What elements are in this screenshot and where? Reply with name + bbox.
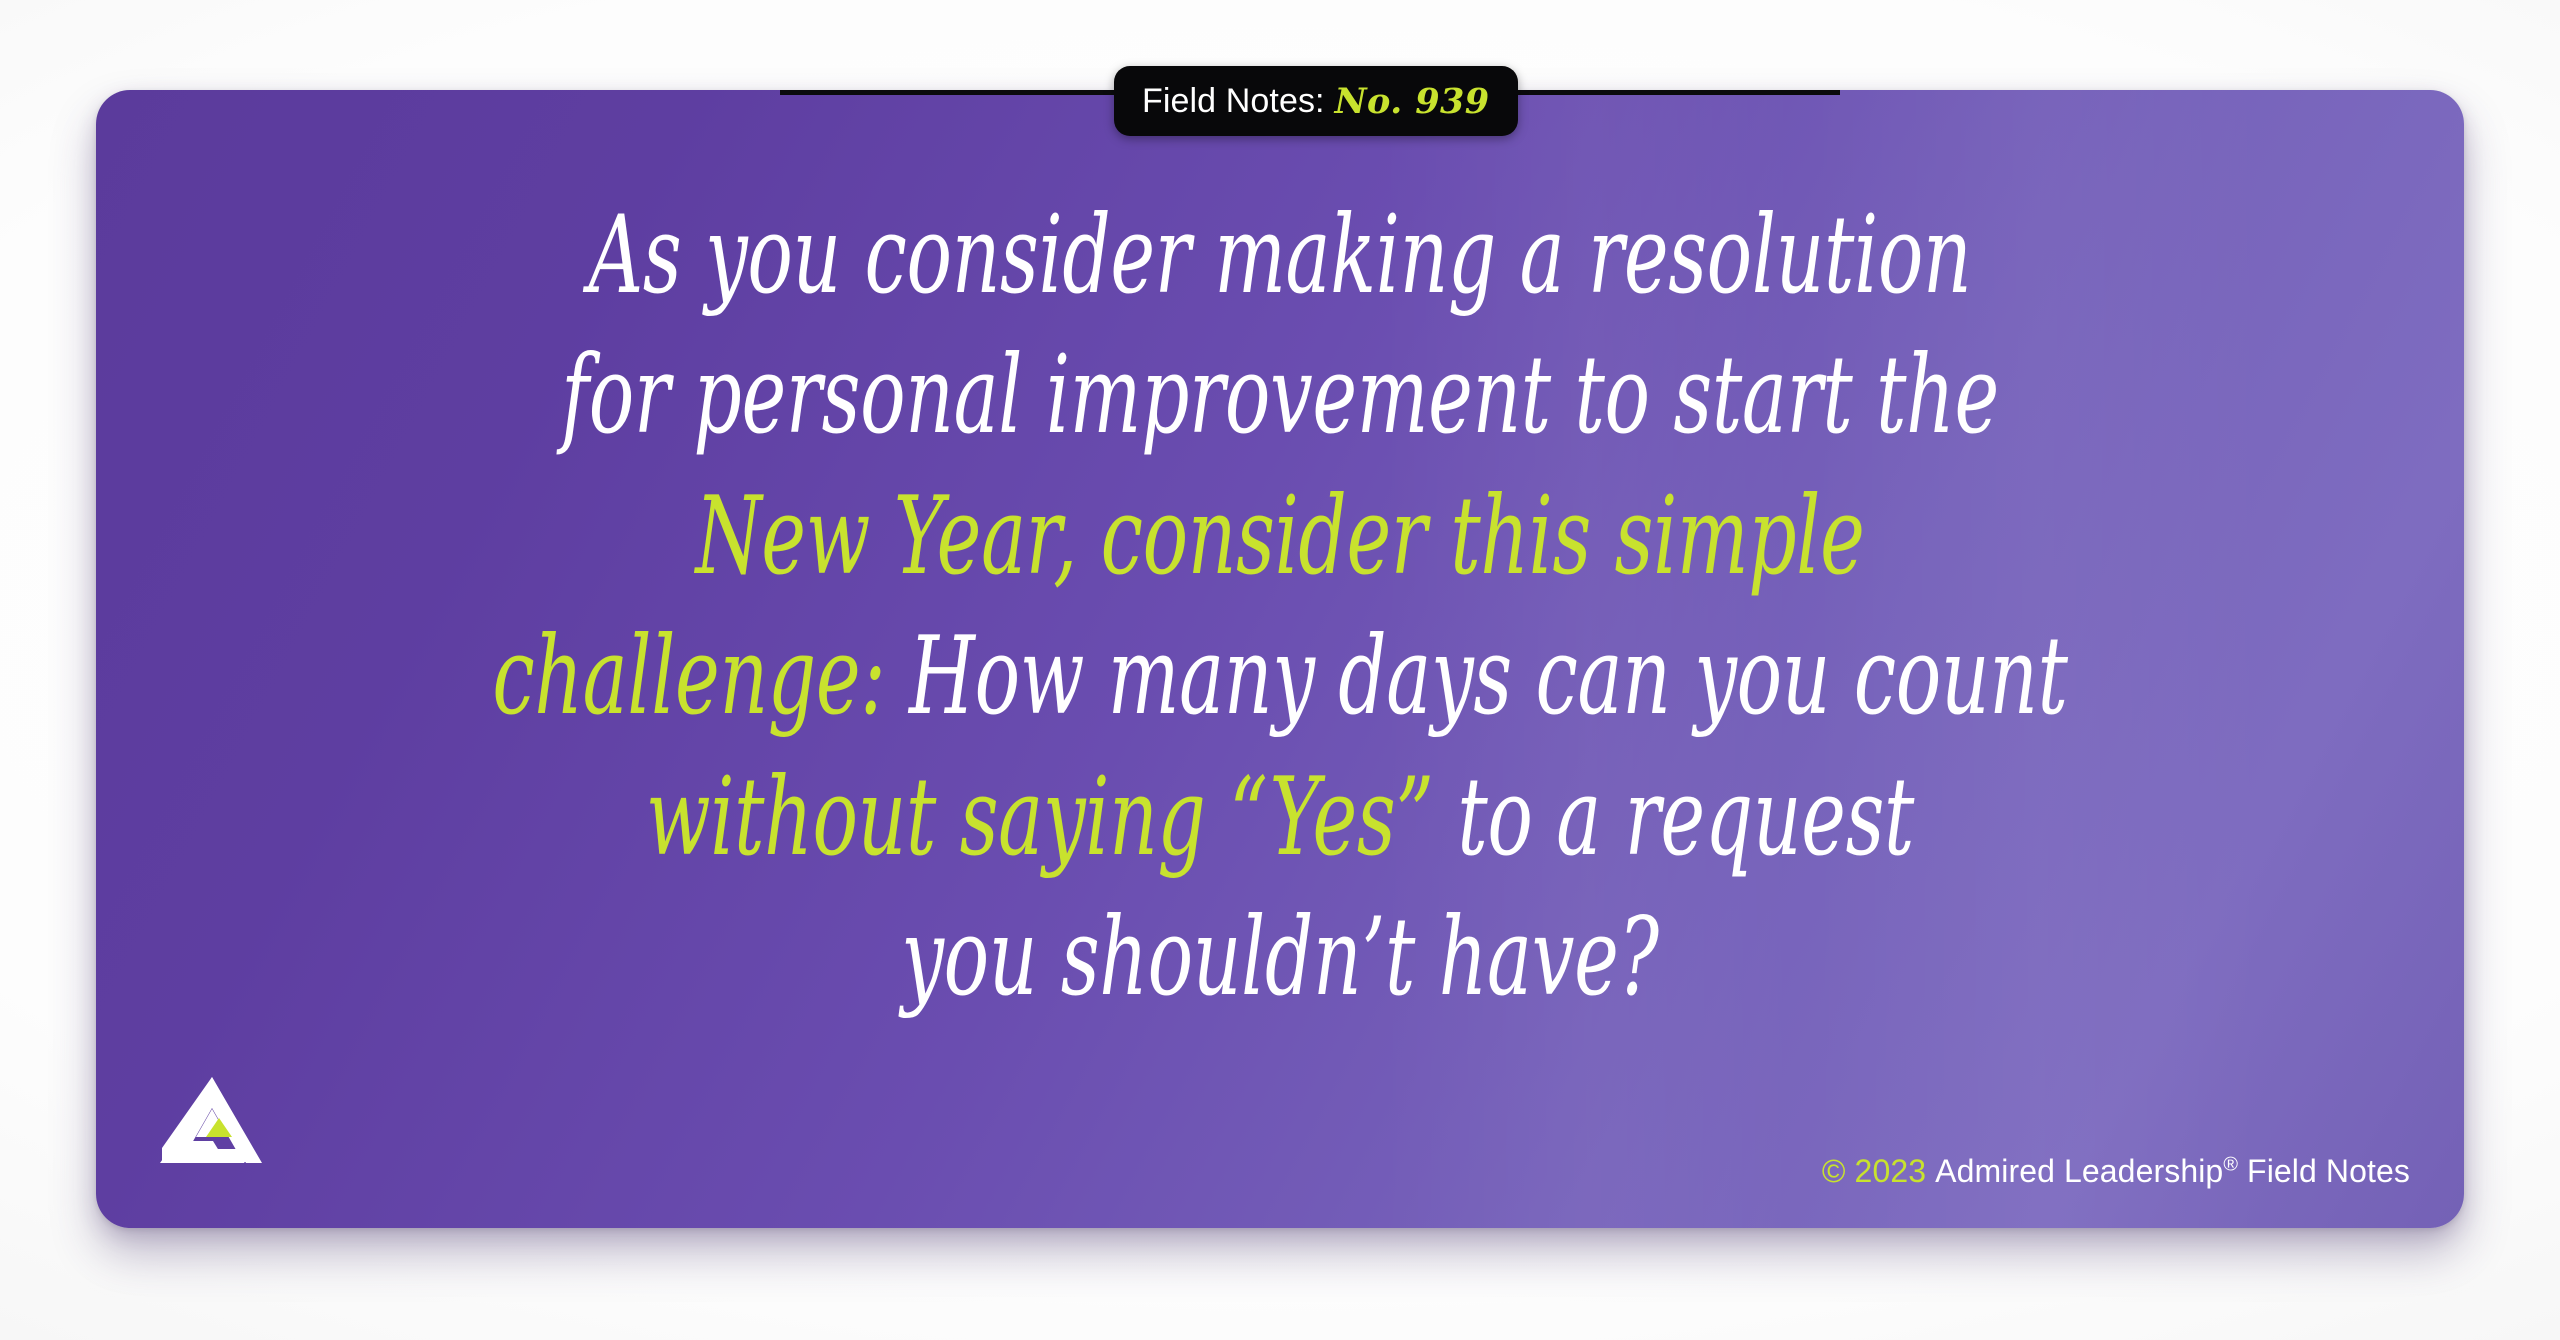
copyright-year: © 2023 <box>1822 1153 1926 1190</box>
quote-segment: to a request <box>1434 755 1914 880</box>
quote-line-4: challenge: How many days can you count <box>490 607 2069 747</box>
quote-text: As you consider making a resolution for … <box>451 186 2109 1028</box>
quote-line-5: without saying “Yes” to a request <box>490 748 2069 888</box>
badge-label: Field Notes: <box>1142 82 1325 121</box>
admired-leadership-logo-icon <box>158 1075 266 1171</box>
quote-segment: for personal improvement to start the <box>561 333 1999 458</box>
field-notes-badge: Field Notes: No. 939 <box>1114 66 1518 136</box>
quote-line-1: As you consider making a resolution <box>490 186 2069 326</box>
brand-attribution: Admired Leadership® Field Notes <box>1935 1153 2410 1190</box>
badge-number: No. 939 <box>1335 81 1490 122</box>
copyright-footer: © 2023 Admired Leadership® Field Notes <box>1822 1153 2410 1190</box>
quote-segment-highlight: New Year, consider this simple <box>695 474 1864 599</box>
brand-suffix: Field Notes <box>2238 1153 2410 1189</box>
registered-mark: ® <box>2223 1153 2238 1175</box>
quote-segment: As you consider making a resolution <box>589 193 1972 318</box>
quote-segment-highlight: without saying “Yes” <box>646 755 1434 880</box>
quote-segment: you shouldn’t have? <box>901 895 1658 1020</box>
quote-line-3: New Year, consider this simple <box>490 467 2069 607</box>
quote-segment-highlight: challenge: <box>492 614 885 739</box>
field-note-card: As you consider making a resolution for … <box>96 90 2464 1228</box>
screenshot-canvas: As you consider making a resolution for … <box>0 0 2560 1340</box>
brand-name: Admired Leadership <box>1935 1153 2223 1189</box>
quote-line-2: for personal improvement to start the <box>490 326 2069 466</box>
quote-segment: How many days can you count <box>885 614 2067 739</box>
quote-line-6: you shouldn’t have? <box>490 888 2069 1028</box>
